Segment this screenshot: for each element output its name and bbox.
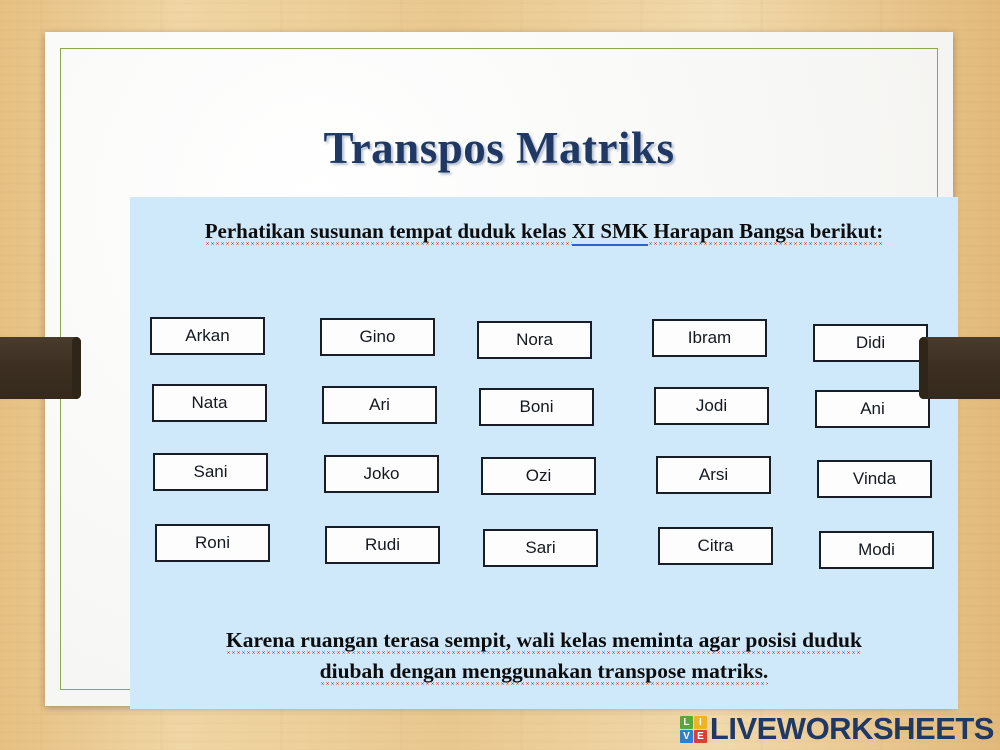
seat-box[interactable]: Arsi xyxy=(656,456,771,494)
seat-box[interactable]: Boni xyxy=(479,388,594,426)
seat-box[interactable]: Jodi xyxy=(654,387,769,425)
logo-tile-e: E xyxy=(694,730,707,743)
caption-text: Karena ruangan terasa sempit, wali kelas… xyxy=(150,625,938,687)
seat-box[interactable]: Ani xyxy=(815,390,930,428)
worksheet-card: Transpos Matriks Perhatikan susunan temp… xyxy=(45,32,953,706)
seat-box[interactable]: Didi xyxy=(813,324,928,362)
logo-tile-i: I xyxy=(694,716,707,729)
logo-tile-l: L xyxy=(680,716,693,729)
seat-box[interactable]: Vinda xyxy=(817,460,932,498)
seat-box[interactable]: Gino xyxy=(320,318,435,356)
ribbon-right xyxy=(922,337,1000,399)
caption-line-1: Karena ruangan terasa sempit, wali kelas… xyxy=(226,628,862,654)
content-panel: Perhatikan susunan tempat duduk kelas XI… xyxy=(130,197,958,709)
logo-tile-v: V xyxy=(680,730,693,743)
seat-box[interactable]: Ozi xyxy=(481,457,596,495)
seat-box[interactable]: Sari xyxy=(483,529,598,567)
logo-tiles: L I V E xyxy=(680,716,707,743)
seat-box[interactable]: Roni xyxy=(155,524,270,562)
caption-line-2: diubah dengan menggunakan transpose matr… xyxy=(320,659,769,685)
seat-box[interactable]: Citra xyxy=(658,527,773,565)
seat-box[interactable]: Modi xyxy=(819,531,934,569)
seat-box[interactable]: Arkan xyxy=(150,317,265,355)
slide-background: Transpos Matriks Perhatikan susunan temp… xyxy=(0,0,1000,750)
liveworksheets-logo[interactable]: L I V E LIVEWORKSHEETS xyxy=(680,712,994,746)
page-title: Transpos Matriks xyxy=(45,122,953,174)
seat-box[interactable]: Joko xyxy=(324,455,439,493)
logo-wordmark: LIVEWORKSHEETS xyxy=(710,711,994,747)
seat-box[interactable]: Ari xyxy=(322,386,437,424)
seat-box[interactable]: Nata xyxy=(152,384,267,422)
seat-box[interactable]: Nora xyxy=(477,321,592,359)
seat-box[interactable]: Rudi xyxy=(325,526,440,564)
seat-box[interactable]: Ibram xyxy=(652,319,767,357)
ribbon-left xyxy=(0,337,78,399)
seat-box[interactable]: Sani xyxy=(153,453,268,491)
